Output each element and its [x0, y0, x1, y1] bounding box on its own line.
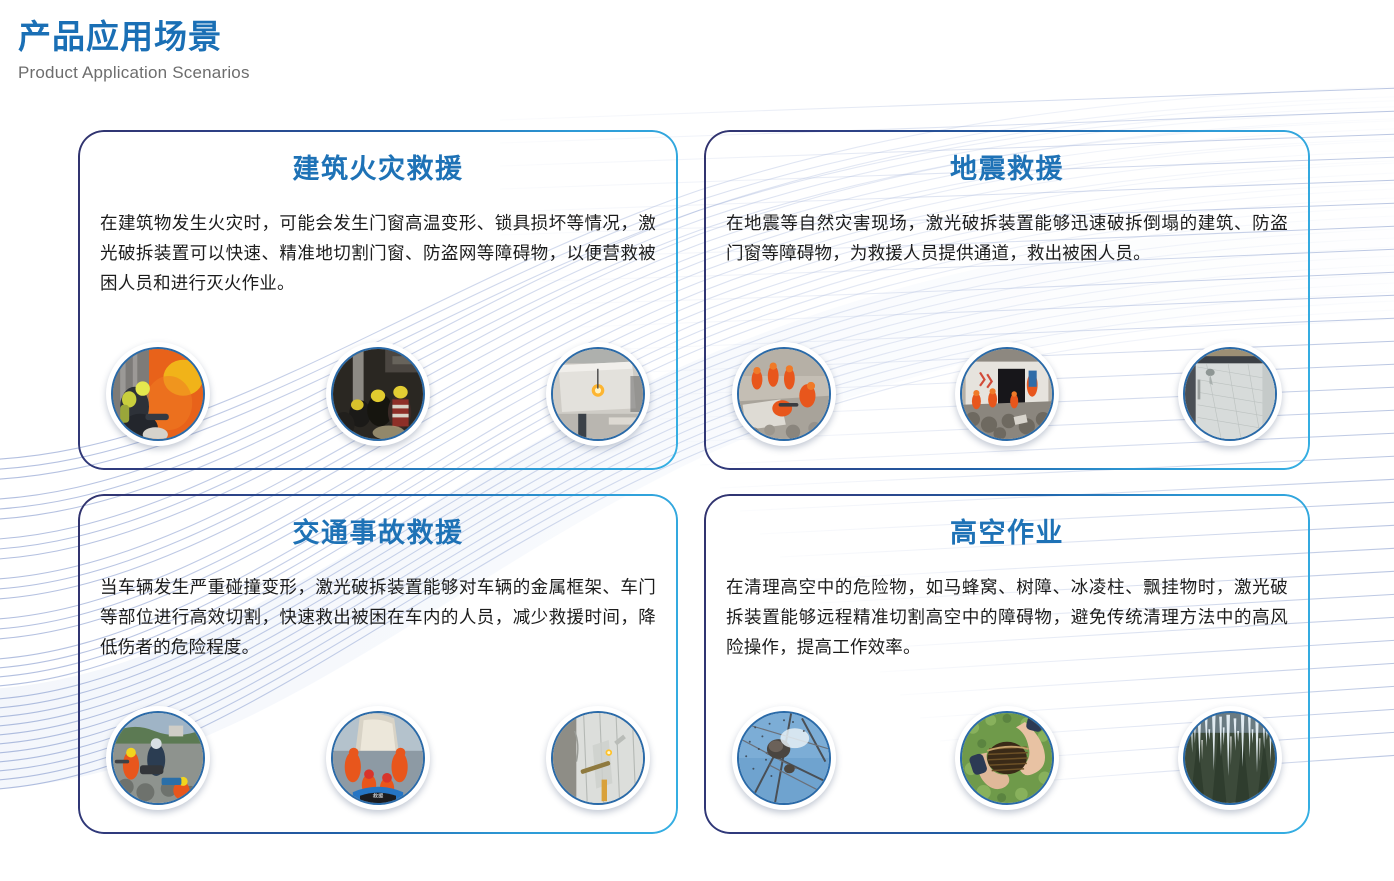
- photo-frame: [111, 711, 205, 805]
- hands-holding-honeycomb-photo[interactable]: [955, 706, 1059, 810]
- page-title: 产品应用场景: [18, 16, 250, 57]
- card-photo-row: [732, 342, 1282, 446]
- card-title: 高空作业: [704, 511, 1310, 550]
- card-description: 在清理高空中的危险物，如马蜂窝、树障、冰凌柱、飘挂物时，激光破拆装置能够远程精准…: [726, 572, 1288, 662]
- card-photo-row: [732, 706, 1282, 810]
- photo-frame: 救援: [331, 711, 425, 805]
- icicles-on-trees-photo[interactable]: [1178, 706, 1282, 810]
- photo-frame: [551, 711, 645, 805]
- photo-frame: [960, 711, 1054, 805]
- photo-frame: [960, 347, 1054, 441]
- card-title: 交通事故救援: [78, 511, 678, 550]
- page-subtitle: Product Application Scenarios: [18, 63, 250, 83]
- scenario-cards-grid: 建筑火灾救援 在建筑物发生火灾时，可能会发生门窗高温变形、锁具损坏等情况，激光破…: [0, 0, 1394, 881]
- car-roof-removal-photo[interactable]: 救援: [326, 706, 430, 810]
- laser-cutting-vehicle-metal-photo[interactable]: [546, 706, 650, 810]
- rescuers-on-rubble-photo[interactable]: [732, 342, 836, 446]
- crash-site-rescue-photo[interactable]: [106, 706, 210, 810]
- photo-frame: [1183, 711, 1277, 805]
- photo-frame: [551, 347, 645, 441]
- photo-frame: [111, 347, 205, 441]
- photo-frame: [331, 347, 425, 441]
- card-title: 建筑火灾救援: [78, 147, 678, 186]
- scenario-card-high-altitude-operation[interactable]: 高空作业 在清理高空中的危险物，如马蜂窝、树障、冰凌柱、飘挂物时，激光破拆装置能…: [704, 494, 1310, 834]
- collapsed-building-entry-photo[interactable]: [955, 342, 1059, 446]
- card-title: 地震救援: [704, 147, 1310, 186]
- svg-text:救援: 救援: [373, 792, 384, 800]
- wasp-nest-on-power-line-photo[interactable]: [732, 706, 836, 810]
- card-description: 在地震等自然灾害现场，激光破拆装置能够迅速破拆倒塌的建筑、防盗门窗等障碍物，为救…: [726, 208, 1288, 268]
- card-description: 当车辆发生严重碰撞变形，激光破拆装置能够对车辆的金属框架、车门等部位进行高效切割…: [100, 572, 656, 662]
- card-description: 在建筑物发生火灾时，可能会发生门窗高温变形、锁具损坏等情况，激光破拆装置可以快速…: [100, 208, 656, 298]
- page-header: 产品应用场景 Product Application Scenarios: [18, 16, 250, 83]
- scenario-card-traffic-accident-rescue[interactable]: 交通事故救援 当车辆发生严重碰撞变形，激光破拆装置能够对车辆的金属框架、车门等部…: [78, 494, 678, 834]
- card-photo-row: 救援: [106, 706, 650, 810]
- scenario-card-earthquake-rescue[interactable]: 地震救援 在地震等自然灾害现场，激光破拆装置能够迅速破拆倒塌的建筑、防盗门窗等障…: [704, 130, 1310, 470]
- shattered-window-glass-photo[interactable]: [1178, 342, 1282, 446]
- photo-frame: [737, 347, 831, 441]
- firefighters-battling-blaze-photo[interactable]: [106, 342, 210, 446]
- firefighters-in-smoke-corridor-photo[interactable]: [326, 342, 430, 446]
- scenario-card-building-fire-rescue[interactable]: 建筑火灾救援 在建筑物发生火灾时，可能会发生门窗高温变形、锁具损坏等情况，激光破…: [78, 130, 678, 470]
- photo-frame: [737, 711, 831, 805]
- card-photo-row: [106, 342, 650, 446]
- laser-cutting-concrete-block-photo[interactable]: [546, 342, 650, 446]
- photo-frame: [1183, 347, 1277, 441]
